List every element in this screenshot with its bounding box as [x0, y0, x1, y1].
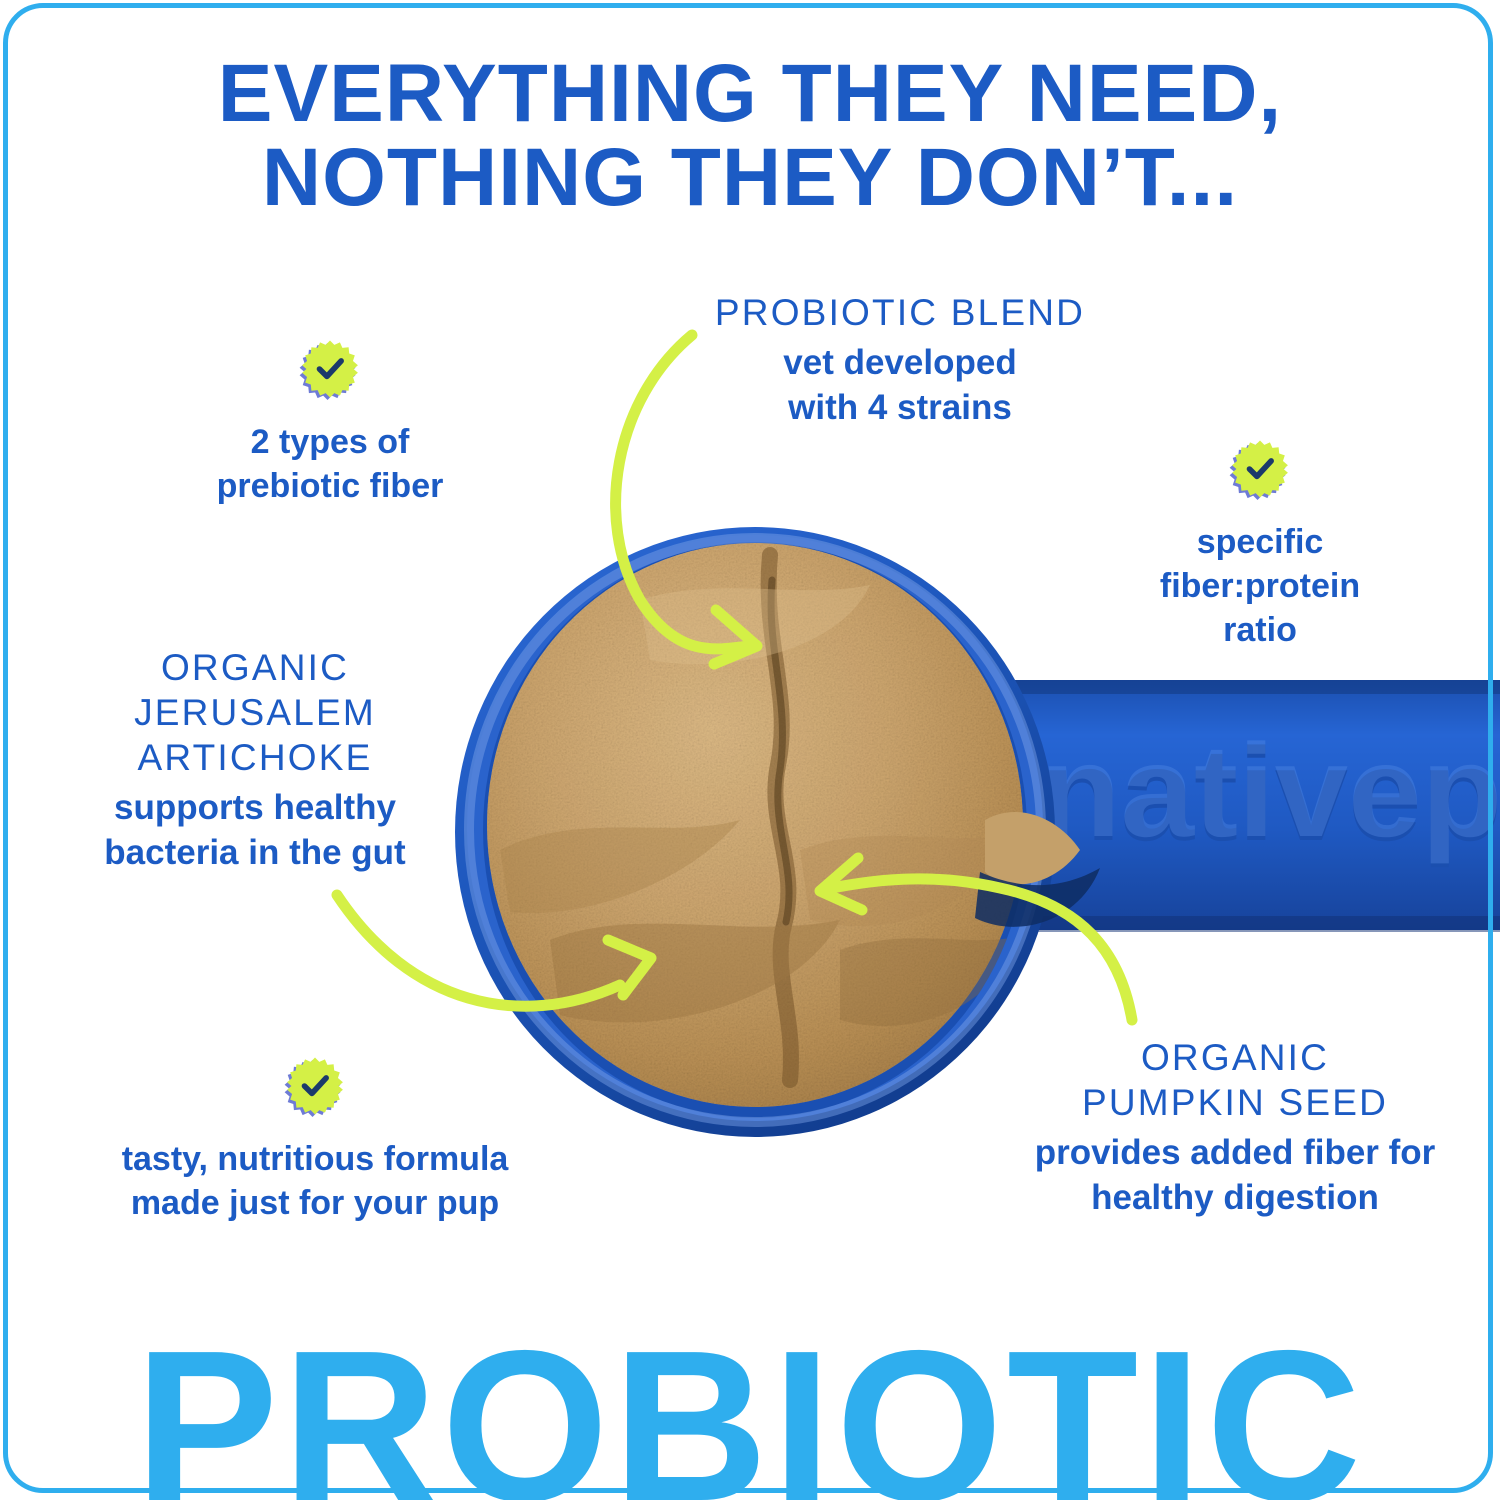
callout-probiotic-blend-heading: PROBIOTIC BLEND: [690, 290, 1110, 335]
callout-pumpkin-seed: ORGANIC PUMPKIN SEED provides added fibe…: [1000, 1035, 1470, 1221]
headline-line-2: NOTHING THEY DON’T...: [0, 136, 1500, 220]
callout-tasty-formula-text: tasty, nutritious formula made just for …: [65, 1137, 565, 1225]
bottom-wordmark: PROBIOTIC: [0, 1318, 1500, 1500]
callout-jerusalem-artichoke: ORGANIC JERUSALEM ARTICHOKE supports hea…: [55, 645, 455, 876]
check-badge-svg: [299, 338, 361, 400]
callout-prebiotic-fiber: 2 types of prebiotic fiber: [150, 338, 510, 508]
callout-prebiotic-fiber-text: 2 types of prebiotic fiber: [150, 420, 510, 508]
callout-tasty-formula: tasty, nutritious formula made just for …: [65, 1055, 565, 1225]
check-badge-svg: [1229, 438, 1291, 500]
check-badge-svg: [284, 1055, 346, 1117]
page-title: EVERYTHING THEY NEED, NOTHING THEY DON’T…: [0, 52, 1500, 219]
probiotic-powder: [487, 543, 1023, 1107]
callout-probiotic-blend: PROBIOTIC BLEND vet developed with 4 str…: [690, 290, 1110, 431]
callout-pumpkin-seed-sub: provides added fiber for healthy digesti…: [1000, 1131, 1470, 1221]
svg-text:nativepe: nativepe: [1040, 717, 1500, 864]
callout-probiotic-blend-sub: vet developed with 4 strains: [690, 341, 1110, 431]
callout-pumpkin-seed-heading: ORGANIC PUMPKIN SEED: [1000, 1035, 1470, 1125]
callout-fiber-protein-ratio-text: specific fiber:protein ratio: [1100, 520, 1420, 653]
callout-jerusalem-artichoke-heading: ORGANIC JERUSALEM ARTICHOKE: [55, 645, 455, 780]
check-badge-icon: [299, 338, 361, 400]
headline-line-1: EVERYTHING THEY NEED,: [0, 52, 1500, 136]
check-badge-icon: [284, 1055, 346, 1117]
infographic-page: nativepe nativepe: [0, 0, 1500, 1500]
check-badge-icon: [1229, 438, 1291, 500]
callout-fiber-protein-ratio: specific fiber:protein ratio: [1100, 438, 1420, 653]
callout-jerusalem-artichoke-sub: supports healthy bacteria in the gut: [55, 786, 455, 876]
